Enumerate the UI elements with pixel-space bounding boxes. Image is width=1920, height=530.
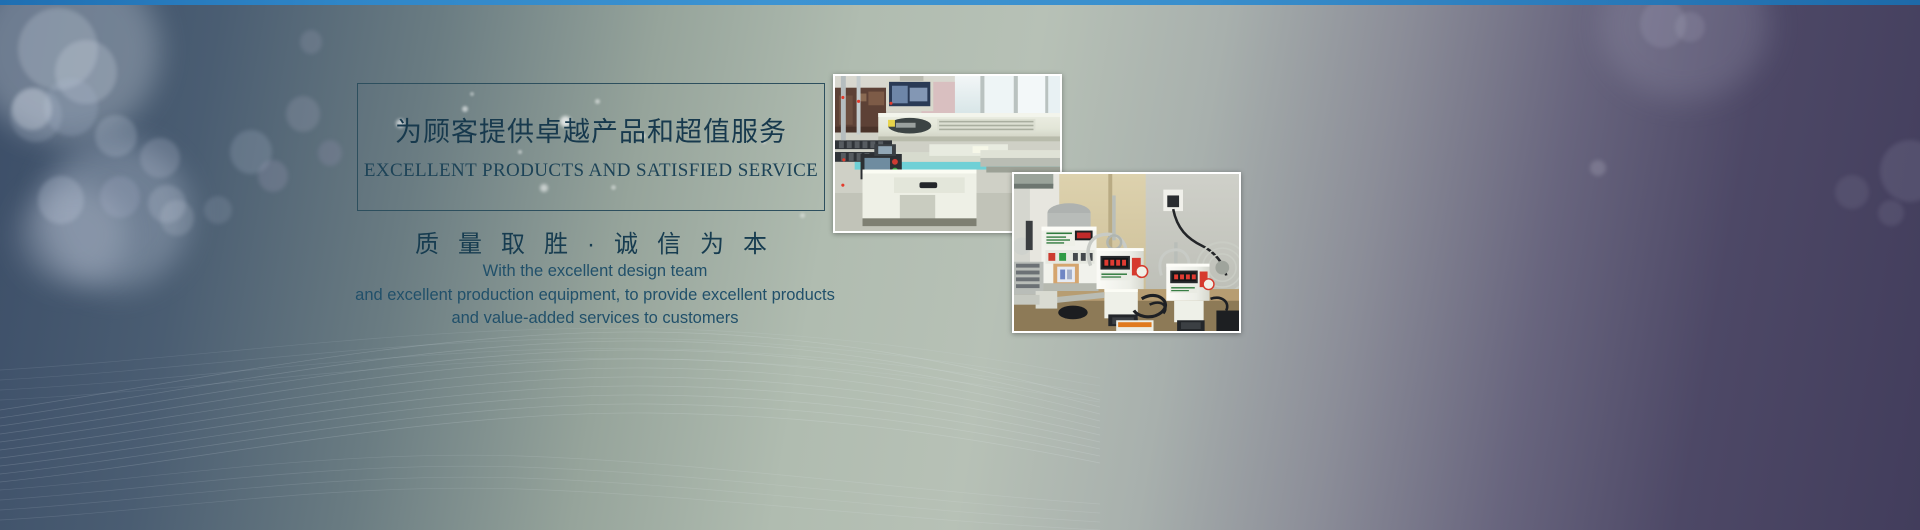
terminal-crimping-machines-photo bbox=[1012, 172, 1241, 333]
top-accent-stripe bbox=[0, 0, 1920, 5]
paragraph-line-1: With the excellent design team bbox=[300, 260, 890, 284]
headline-chinese: 为顾客提供卓越产品和超值服务 bbox=[358, 110, 824, 149]
paragraph-line-3: and value-added services to customers bbox=[300, 307, 890, 331]
headline-english: EXCELLENT PRODUCTS AND SATISFIED SERVICE bbox=[358, 160, 824, 182]
company-banner: 为顾客提供卓越产品和超值服务 EXCELLENT PRODUCTS AND SA… bbox=[0, 0, 1920, 530]
slogan-chinese: 质量取胜·诚信为本 bbox=[357, 224, 825, 259]
paragraph-line-2: and excellent production equipment, to p… bbox=[300, 284, 890, 308]
description-paragraph: With the excellent design team and excel… bbox=[300, 260, 890, 331]
headline-box: 为顾客提供卓越产品和超值服务 EXCELLENT PRODUCTS AND SA… bbox=[357, 83, 825, 211]
